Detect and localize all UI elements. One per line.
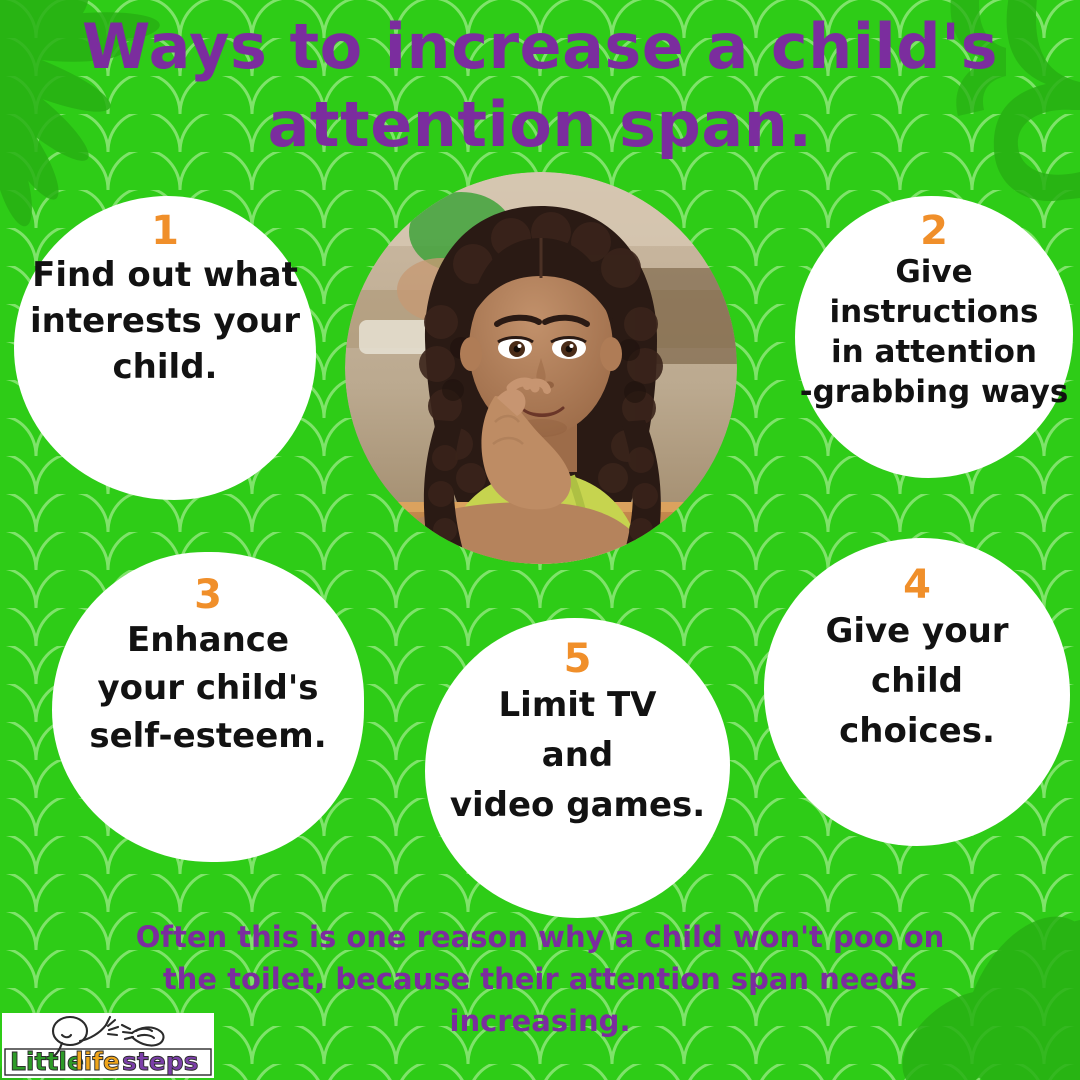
tip-number-1: 1 <box>151 210 179 252</box>
tip-number-5: 5 <box>564 638 592 680</box>
title-line-2: attention span. <box>0 86 1080 164</box>
tip-text-2: Give instructions in attention -grabbing… <box>800 252 1069 412</box>
tip-number-4: 4 <box>903 564 931 606</box>
page-title: Ways to increase a child's attention spa… <box>0 8 1080 164</box>
tip-text-1: Find out what interests your child. <box>30 252 300 390</box>
little-life-steps-logo: Little life steps <box>2 1013 214 1078</box>
title-line-1: Ways to increase a child's <box>0 8 1080 86</box>
child-photo-illustration <box>345 172 737 564</box>
logo-word-life: life <box>75 1047 120 1076</box>
tip-text-4: Give your child choices. <box>825 606 1008 756</box>
logo[interactable]: Little life steps <box>2 1013 214 1078</box>
logo-word-steps: steps <box>122 1047 199 1076</box>
tip-card-3[interactable]: 3 Enhance your child's self-esteem. <box>52 552 364 862</box>
tip-card-1[interactable]: 1 Find out what interests your child. <box>14 196 316 500</box>
footer-note: Often this is one reason why a child won… <box>100 916 980 1042</box>
logo-word-little: Little <box>10 1047 84 1076</box>
tip-card-5[interactable]: 5 Limit TV and video games. <box>425 618 730 918</box>
tip-number-3: 3 <box>194 574 222 616</box>
tip-text-3: Enhance your child's self-esteem. <box>89 616 326 760</box>
tip-card-4[interactable]: 4 Give your child choices. <box>764 538 1070 846</box>
child-photo <box>345 172 737 564</box>
tip-number-2: 2 <box>920 210 948 252</box>
tip-text-5: Limit TV and video games. <box>450 680 705 830</box>
